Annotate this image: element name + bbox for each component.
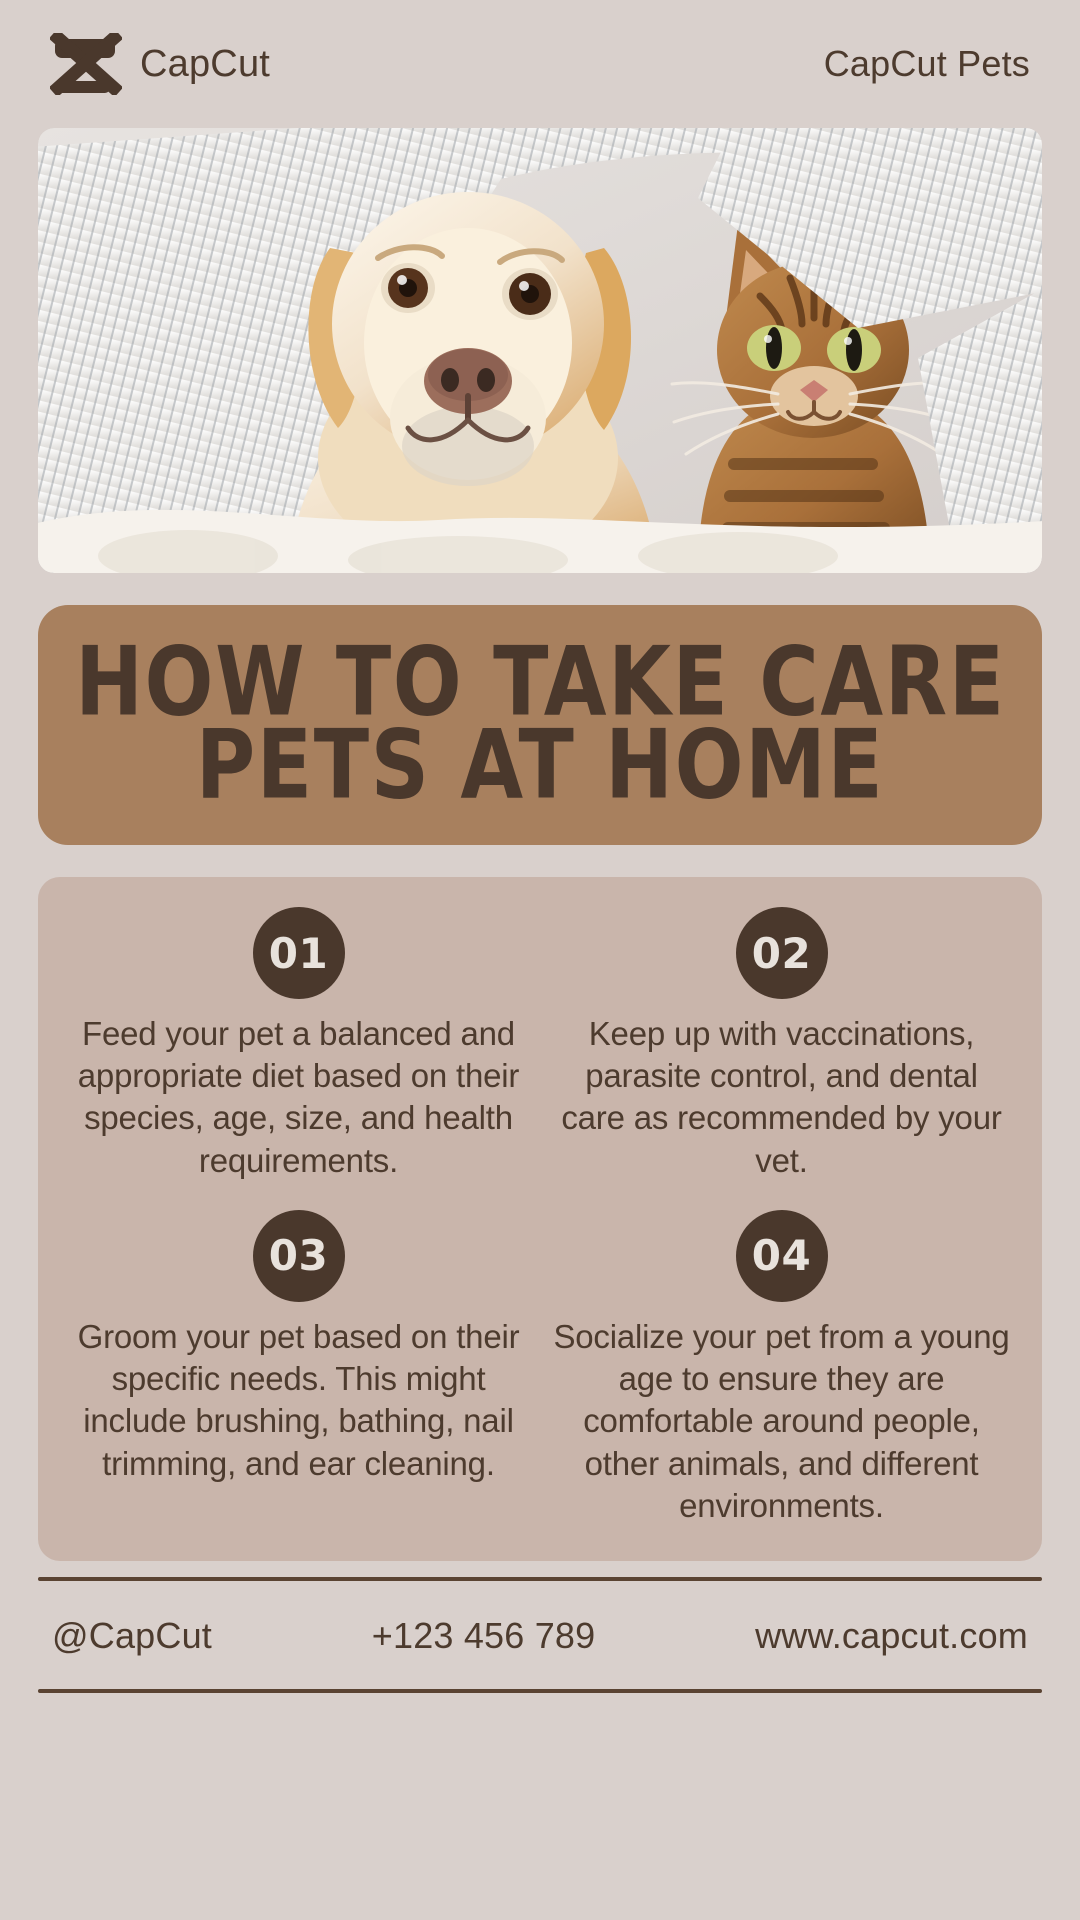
brand-name: CapCut xyxy=(140,43,270,86)
footer-divider-bottom xyxy=(38,1689,1042,1693)
tip-text-04: Socialize your pet from a young age to e… xyxy=(547,1316,1016,1527)
brand: CapCut xyxy=(50,33,270,95)
tip-item-03: 03 Groom your pet based on their specifi… xyxy=(64,1210,533,1527)
tips-card: 01 Feed your pet a balanced and appropri… xyxy=(38,877,1042,1561)
footer-phone[interactable]: +123 456 789 xyxy=(372,1615,596,1657)
header: CapCut CapCut Pets xyxy=(38,0,1042,128)
capcut-logo-icon xyxy=(50,33,122,95)
footer-handle[interactable]: @CapCut xyxy=(52,1615,212,1657)
tip-item-02: 02 Keep up with vaccinations, parasite c… xyxy=(547,907,1016,1182)
title-line-2: Pets at Home xyxy=(196,717,885,816)
tip-badge-04: 04 xyxy=(736,1210,828,1302)
tip-text-03: Groom your pet based on their specific n… xyxy=(64,1316,533,1485)
tip-item-01: 01 Feed your pet a balanced and appropri… xyxy=(64,907,533,1182)
tip-text-02: Keep up with vaccinations, parasite cont… xyxy=(547,1013,1016,1182)
tip-text-01: Feed your pet a balanced and appropriate… xyxy=(64,1013,533,1182)
header-right-label: CapCut Pets xyxy=(824,43,1030,85)
footer: @CapCut +123 456 789 www.capcut.com xyxy=(38,1581,1042,1687)
footer-website[interactable]: www.capcut.com xyxy=(755,1615,1028,1657)
infographic-page: CapCut CapCut Pets xyxy=(0,0,1080,1920)
hero-photo xyxy=(38,128,1042,573)
tip-badge-01: 01 xyxy=(253,907,345,999)
title-banner: How to Take Care Pets at Home xyxy=(38,605,1042,845)
tip-item-04: 04 Socialize your pet from a young age t… xyxy=(547,1210,1016,1527)
tip-badge-03: 03 xyxy=(253,1210,345,1302)
tip-badge-02: 02 xyxy=(736,907,828,999)
